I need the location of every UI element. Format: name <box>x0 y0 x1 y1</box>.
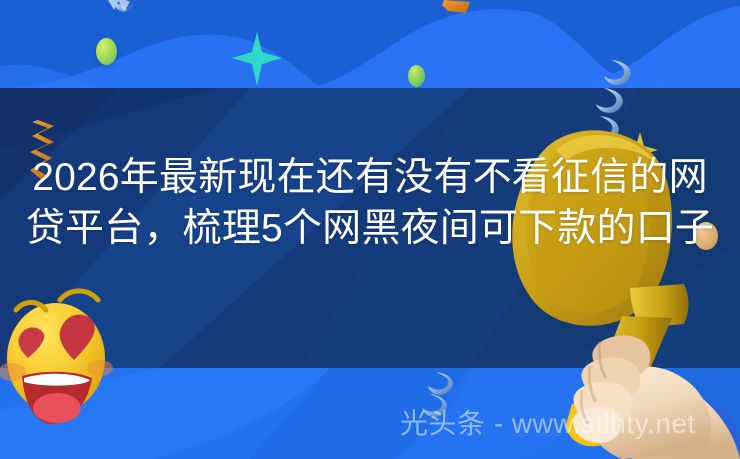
cover-image: 2026年最新现在还有没有不看征信的网贷平台，梳理5个网黑夜间可下款的口子 光头… <box>0 0 740 459</box>
site-watermark: 光头条 - www.stlhty.net <box>400 408 696 440</box>
background-band-top <box>0 0 740 88</box>
page-title: 2026年最新现在还有没有不看征信的网贷平台，梳理5个网黑夜间可下款的口子 <box>24 152 716 254</box>
